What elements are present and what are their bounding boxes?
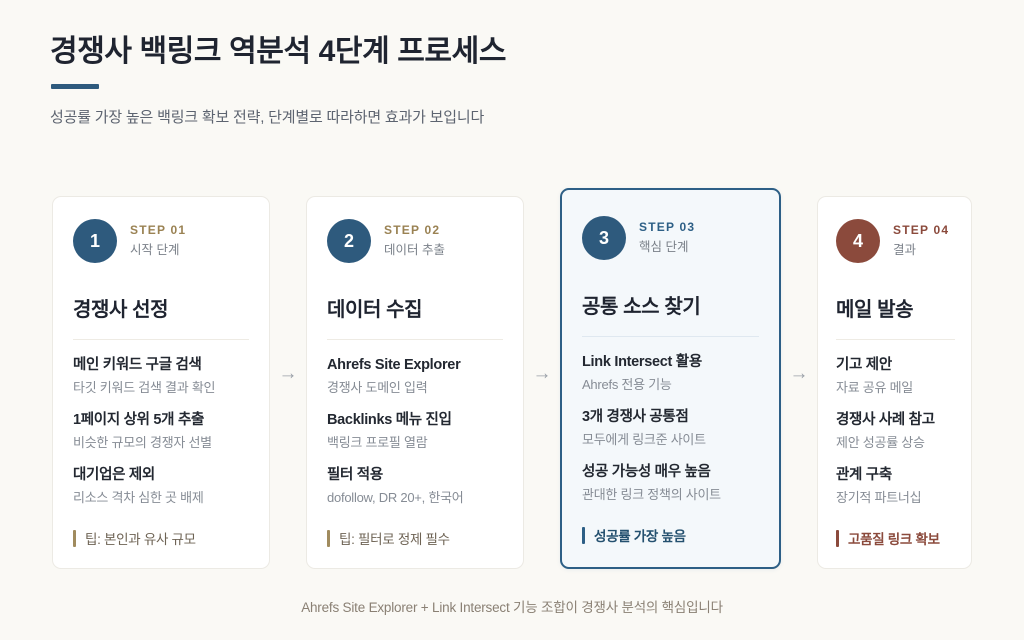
card-title-1: 경쟁사 선정: [73, 293, 249, 322]
list-item: 관계 구축 장기적 파트너십: [836, 466, 955, 506]
step-meta-4: STEP 04 결과: [893, 223, 949, 258]
item-desc: 장기적 파트너십: [836, 489, 955, 507]
list-item: 필터 적용 dofollow, DR 20+, 한국어: [327, 466, 503, 506]
item-desc: dofollow, DR 20+, 한국어: [327, 489, 503, 507]
item-desc: 백링크 프로필 열람: [327, 434, 503, 452]
card-title-3: 공통 소스 찾기: [582, 290, 759, 319]
item-desc: Ahrefs 전용 기능: [582, 376, 759, 394]
footer-note: Ahrefs Site Explorer + Link Intersect 기능…: [0, 596, 1024, 616]
item-title: 기고 제안: [836, 356, 955, 376]
item-title: 메인 키워드 구글 검색: [73, 356, 249, 376]
list-item: 성공 가능성 매우 높음 관대한 링크 정책의 사이트: [582, 463, 759, 503]
card-items-1: 메인 키워드 구글 검색 타깃 키워드 검색 결과 확인 1페이지 상위 5개 …: [73, 356, 249, 506]
list-item: Ahrefs Site Explorer 경쟁사 도메인 입력: [327, 356, 503, 396]
item-title: Backlinks 메뉴 진입: [327, 411, 503, 431]
arrow-icon-2-to-3: →: [524, 196, 560, 383]
step-label-3: STEP 03: [639, 220, 695, 236]
card-divider-3: [582, 336, 759, 337]
list-item: 3개 경쟁사 공통점 모두에게 링크준 사이트: [582, 408, 759, 448]
title-accent-rule: [51, 84, 99, 89]
item-desc: 자료 공유 메일: [836, 379, 955, 397]
step-meta-2: STEP 02 데이터 추출: [384, 223, 445, 258]
step-card-1[interactable]: 1 STEP 01 시작 단계 경쟁사 선정 메인 키워드 구글 검색 타깃 키…: [52, 196, 270, 569]
list-item: 기고 제안 자료 공유 메일: [836, 356, 955, 396]
item-title: 1페이지 상위 5개 추출: [73, 411, 249, 431]
item-title: 3개 경쟁사 공통점: [582, 408, 759, 428]
item-title: 경쟁사 사례 참고: [836, 411, 955, 431]
card-divider-4: [836, 339, 955, 340]
card-tip-1: 팁: 본인과 유사 규모: [73, 506, 249, 548]
card-header-1: 1 STEP 01 시작 단계: [73, 219, 249, 263]
step-cards-row: 1 STEP 01 시작 단계 경쟁사 선정 메인 키워드 구글 검색 타깃 키…: [52, 196, 974, 569]
step-label-1: STEP 01: [130, 223, 186, 239]
card-divider-1: [73, 339, 249, 340]
card-items-3: Link Intersect 활용 Ahrefs 전용 기능 3개 경쟁사 공통…: [582, 353, 759, 503]
item-desc: 관대한 링크 정책의 사이트: [582, 486, 759, 504]
card-header-3: 3 STEP 03 핵심 단계: [582, 216, 759, 260]
tip-accent-bar: [582, 527, 585, 544]
tip-text: 팁: 필터로 정제 필수: [339, 528, 450, 548]
page-title: 경쟁사 백링크 역분석 4단계 프로세스: [50, 34, 950, 70]
step-number-badge-4: 4: [836, 219, 880, 263]
page-subtitle: 성공률 가장 높은 백링크 확보 전략, 단계별로 따라하면 효과가 보입니다: [50, 106, 950, 127]
arrow-icon-3-to-4: →: [781, 196, 817, 383]
item-desc: 비슷한 규모의 경쟁자 선별: [73, 434, 249, 452]
card-header-4: 4 STEP 04 결과: [836, 219, 955, 263]
list-item: 대기업은 제외 리소스 격차 심한 곳 배제: [73, 466, 249, 506]
step-number-badge-3: 3: [582, 216, 626, 260]
card-tip-2: 팁: 필터로 정제 필수: [327, 506, 503, 548]
step-meta-1: STEP 01 시작 단계: [130, 223, 186, 258]
item-title: 성공 가능성 매우 높음: [582, 463, 759, 483]
step-sublabel-3: 핵심 단계: [639, 239, 695, 256]
item-desc: 모두에게 링크준 사이트: [582, 431, 759, 449]
infographic-page: 경쟁사 백링크 역분석 4단계 프로세스 성공률 가장 높은 백링크 확보 전략…: [0, 0, 1024, 640]
card-tip-4: 고품질 링크 확보: [836, 506, 955, 548]
item-title: 관계 구축: [836, 466, 955, 486]
card-items-2: Ahrefs Site Explorer 경쟁사 도메인 입력 Backlink…: [327, 356, 503, 506]
item-desc: 경쟁사 도메인 입력: [327, 379, 503, 397]
step-card-2[interactable]: 2 STEP 02 데이터 추출 데이터 수집 Ahrefs Site Expl…: [306, 196, 524, 569]
card-title-2: 데이터 수집: [327, 293, 503, 322]
card-tip-3: 성공률 가장 높음: [582, 503, 759, 545]
item-title: Ahrefs Site Explorer: [327, 356, 503, 376]
step-card-3[interactable]: 3 STEP 03 핵심 단계 공통 소스 찾기 Link Intersect …: [560, 188, 781, 569]
list-item: 메인 키워드 구글 검색 타깃 키워드 검색 결과 확인: [73, 356, 249, 396]
card-divider-2: [327, 339, 503, 340]
tip-accent-bar: [836, 530, 839, 547]
list-item: Backlinks 메뉴 진입 백링크 프로필 열람: [327, 411, 503, 451]
list-item: Link Intersect 활용 Ahrefs 전용 기능: [582, 353, 759, 393]
card-items-4: 기고 제안 자료 공유 메일 경쟁사 사례 참고 제안 성공률 상승 관계 구축…: [836, 356, 955, 506]
step-meta-3: STEP 03 핵심 단계: [639, 220, 695, 255]
step-label-4: STEP 04: [893, 223, 949, 239]
step-card-4[interactable]: 4 STEP 04 결과 메일 발송 기고 제안 자료 공유 메일 경쟁사 사례…: [817, 196, 972, 569]
step-number-badge-1: 1: [73, 219, 117, 263]
list-item: 1페이지 상위 5개 추출 비슷한 규모의 경쟁자 선별: [73, 411, 249, 451]
item-desc: 리소스 격차 심한 곳 배제: [73, 489, 249, 507]
item-title: Link Intersect 활용: [582, 353, 759, 373]
header: 경쟁사 백링크 역분석 4단계 프로세스 성공률 가장 높은 백링크 확보 전략…: [50, 34, 950, 127]
step-number-badge-2: 2: [327, 219, 371, 263]
tip-accent-bar: [327, 530, 330, 547]
step-sublabel-2: 데이터 추출: [384, 242, 445, 259]
step-sublabel-4: 결과: [893, 242, 949, 259]
tip-text: 고품질 링크 확보: [848, 528, 940, 548]
list-item: 경쟁사 사례 참고 제안 성공률 상승: [836, 411, 955, 451]
card-header-2: 2 STEP 02 데이터 추출: [327, 219, 503, 263]
step-label-2: STEP 02: [384, 223, 445, 239]
tip-accent-bar: [73, 530, 76, 547]
item-title: 대기업은 제외: [73, 466, 249, 486]
tip-text: 팁: 본인과 유사 규모: [85, 528, 196, 548]
arrow-icon-1-to-2: →: [270, 196, 306, 383]
item-desc: 타깃 키워드 검색 결과 확인: [73, 379, 249, 397]
item-desc: 제안 성공률 상승: [836, 434, 955, 452]
item-title: 필터 적용: [327, 466, 503, 486]
tip-text: 성공률 가장 높음: [594, 525, 686, 545]
step-sublabel-1: 시작 단계: [130, 242, 186, 259]
card-title-4: 메일 발송: [836, 293, 955, 322]
